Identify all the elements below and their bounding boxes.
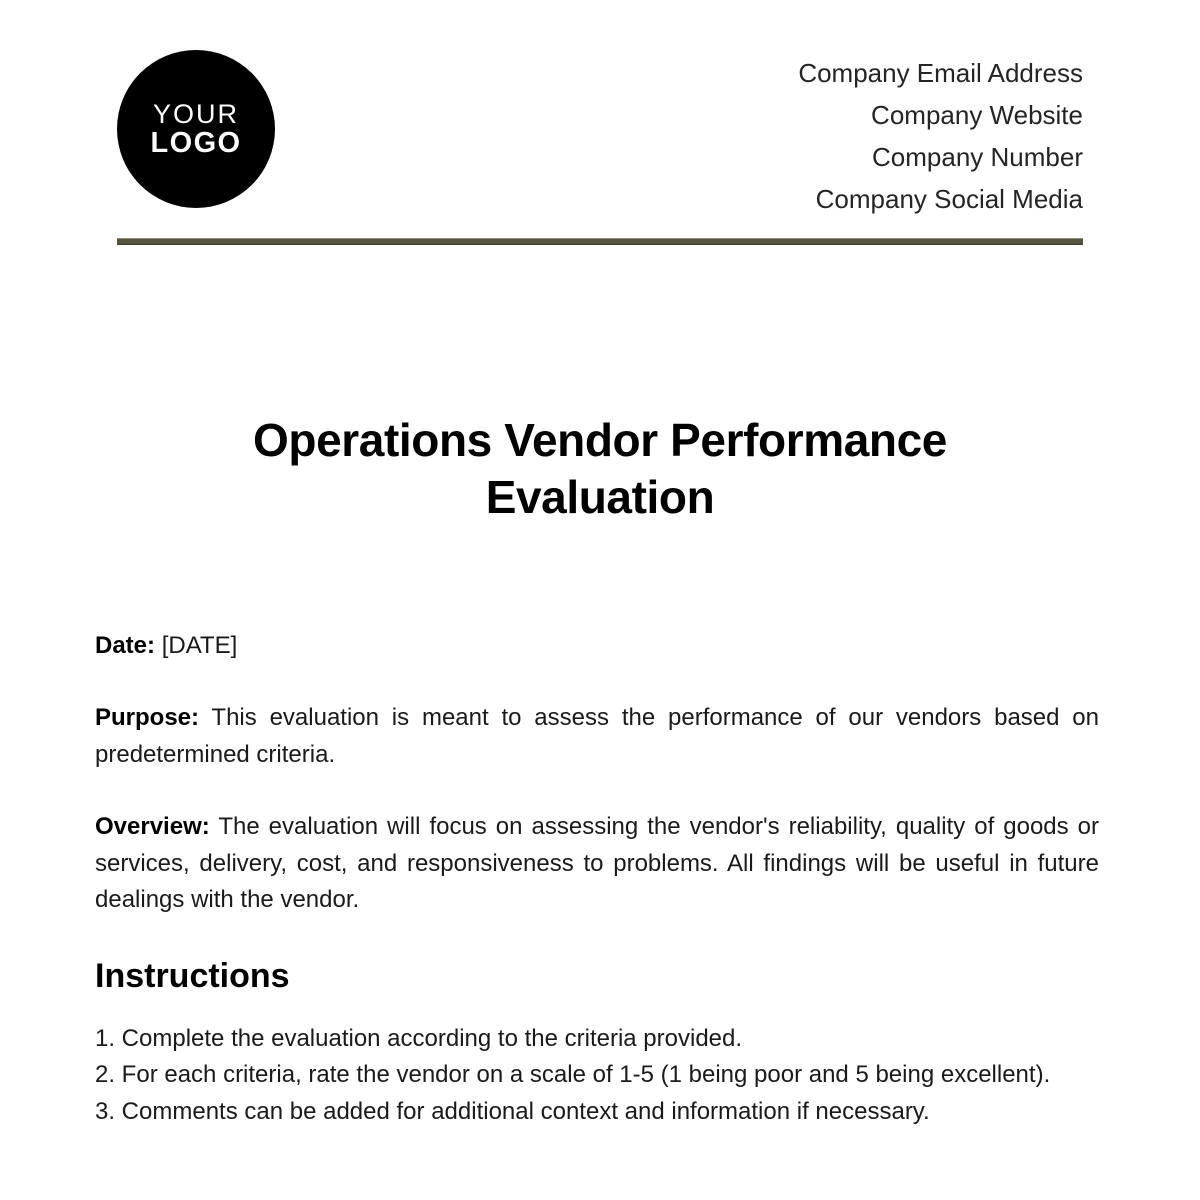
purpose-text: This evaluation is meant to assess the p… bbox=[95, 704, 1099, 768]
date-label: Date: bbox=[95, 632, 155, 659]
document-body: Date: [DATE] Purpose: This evaluation is… bbox=[95, 628, 1099, 1130]
date-field: Date: [DATE] bbox=[95, 628, 1099, 664]
overview-label: Overview: bbox=[95, 813, 210, 840]
page-title-line-1: Operations Vendor Performance bbox=[253, 414, 947, 466]
header-divider-rule bbox=[117, 238, 1083, 245]
overview-paragraph: Overview: The evaluation will focus on a… bbox=[95, 809, 1099, 919]
document-page: YOUR LOGO Company Email Address Company … bbox=[0, 0, 1200, 1200]
list-item: 3. Comments can be added for additional … bbox=[95, 1094, 1099, 1131]
page-title-line-2: Evaluation bbox=[486, 471, 715, 523]
logo-text-your: YOUR bbox=[153, 100, 239, 128]
list-item: 2. For each criteria, rate the vendor on… bbox=[95, 1057, 1099, 1094]
date-value: [DATE] bbox=[162, 632, 238, 659]
contact-email-address: Company Email Address bbox=[798, 52, 1083, 94]
company-contact-block: Company Email Address Company Website Co… bbox=[798, 52, 1083, 220]
contact-social-media: Company Social Media bbox=[816, 178, 1083, 220]
purpose-label: Purpose: bbox=[95, 704, 199, 731]
overview-text: The evaluation will focus on assessing t… bbox=[95, 813, 1099, 913]
contact-website: Company Website bbox=[871, 94, 1083, 136]
list-item: 1. Complete the evaluation according to … bbox=[95, 1021, 1099, 1058]
logo-text-logo: LOGO bbox=[151, 128, 242, 159]
instructions-heading: Instructions bbox=[95, 955, 1099, 997]
page-title: Operations Vendor Performance Evaluation bbox=[160, 412, 1040, 526]
company-logo: YOUR LOGO bbox=[117, 50, 275, 208]
purpose-paragraph: Purpose: This evaluation is meant to ass… bbox=[95, 700, 1099, 773]
document-header: YOUR LOGO Company Email Address Company … bbox=[117, 40, 1083, 220]
contact-number: Company Number bbox=[872, 136, 1083, 178]
instructions-list: 1. Complete the evaluation according to … bbox=[95, 1021, 1099, 1131]
